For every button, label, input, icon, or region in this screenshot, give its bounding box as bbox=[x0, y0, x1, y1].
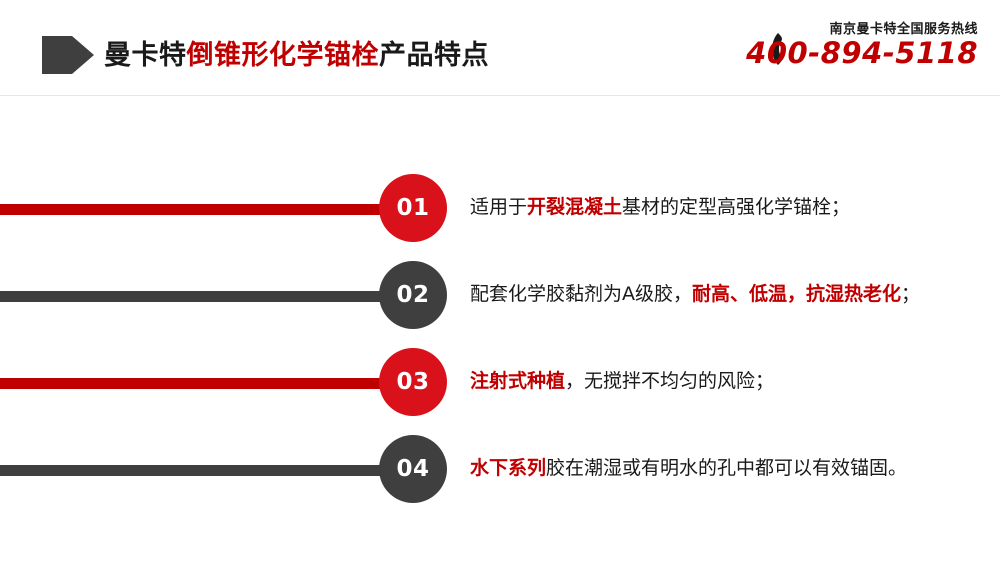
row-bar bbox=[0, 291, 420, 302]
list-item: 03 注射式种植，无搅拌不均匀的风险； bbox=[0, 334, 1000, 421]
list-item: 04 水下系列胶在潮湿或有明水的孔中都可以有效锚固。 bbox=[0, 421, 1000, 508]
row-number-badge: 01 bbox=[379, 174, 447, 242]
feature-list: 01 适用于开裂混凝土基材的定型高强化学锚栓； 02 配套化学胶黏剂为A级胶，耐… bbox=[0, 160, 1000, 508]
hotline-label: 南京曼卡特全国服务热线 bbox=[829, 18, 978, 37]
row-number-badge: 03 bbox=[379, 348, 447, 416]
row-text-segment-highlight: 水下系列 bbox=[470, 457, 546, 479]
page-title: 曼卡特倒锥形化学锚栓产品特点 bbox=[104, 37, 489, 75]
row-bar bbox=[0, 378, 420, 389]
row-number-badge: 02 bbox=[379, 261, 447, 329]
hotline-block: 南京曼卡特全国服务热线 400-894-5118 bbox=[678, 14, 978, 80]
row-text-segment-highlight: 开裂混凝土 bbox=[527, 196, 622, 218]
page-title-part-2: 倒锥形化学锚栓 bbox=[187, 40, 380, 71]
row-text-segment: 基材的定型高强化学锚栓； bbox=[622, 196, 850, 218]
list-item: 02 配套化学胶黏剂为A级胶，耐高、低温，抗湿热老化； bbox=[0, 247, 1000, 334]
hotline-number: 400-894-5118 bbox=[746, 36, 978, 70]
row-text-segment: ； bbox=[901, 283, 920, 305]
row-text-segment: 适用于 bbox=[470, 196, 527, 218]
page-header: 曼卡特倒锥形化学锚栓产品特点 南京曼卡特全国服务热线 400-894-5118 bbox=[0, 0, 1000, 96]
row-text-segment-highlight: 注射式种植 bbox=[470, 370, 565, 392]
play-arrow-icon bbox=[42, 36, 94, 74]
row-bar bbox=[0, 465, 420, 476]
row-text: 水下系列胶在潮湿或有明水的孔中都可以有效锚固。 bbox=[470, 454, 990, 482]
row-text: 配套化学胶黏剂为A级胶，耐高、低温，抗湿热老化； bbox=[470, 280, 990, 308]
page-title-part-1: 曼卡特 bbox=[104, 40, 187, 71]
page-title-part-3: 产品特点 bbox=[379, 40, 489, 71]
row-text: 注射式种植，无搅拌不均匀的风险； bbox=[470, 367, 990, 395]
row-bar bbox=[0, 204, 420, 215]
header-divider bbox=[0, 95, 1000, 96]
row-text-segment-highlight: 耐高、低温，抗湿热老化 bbox=[692, 283, 901, 305]
row-text-segment: 胶在潮湿或有明水的孔中都可以有效锚固。 bbox=[546, 457, 907, 479]
row-text: 适用于开裂混凝土基材的定型高强化学锚栓； bbox=[470, 193, 990, 221]
row-text-segment: ，无搅拌不均匀的风险； bbox=[565, 370, 774, 392]
row-text-segment: 配套化学胶黏剂为A级胶， bbox=[470, 283, 692, 305]
list-item: 01 适用于开裂混凝土基材的定型高强化学锚栓； bbox=[0, 160, 1000, 247]
row-number-badge: 04 bbox=[379, 435, 447, 503]
